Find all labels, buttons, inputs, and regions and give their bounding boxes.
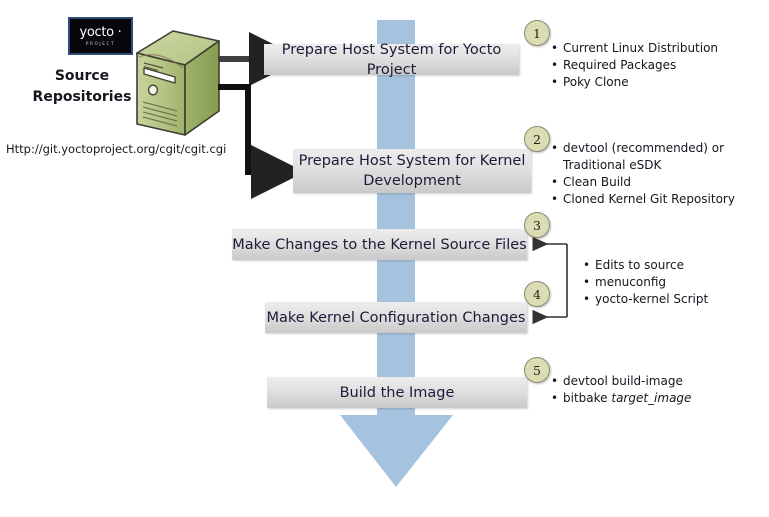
server-tower-icon bbox=[133, 27, 223, 139]
step-box-5[interactable]: Build the Image bbox=[267, 377, 527, 408]
step-badge-1: 1 bbox=[524, 20, 550, 46]
arrow-source-to-step2 bbox=[218, 87, 257, 172]
build-note-text: devtool build-image bbox=[563, 374, 683, 388]
yocto-project-logo: yocto · PROJECT bbox=[68, 17, 133, 55]
source-repositories-label: Source Repositories bbox=[22, 66, 142, 108]
step-badge-5: 5 bbox=[524, 357, 550, 383]
logo-subtext: PROJECT bbox=[86, 40, 115, 47]
step-badge-4: 4 bbox=[524, 281, 550, 307]
step-box-2[interactable]: Prepare Host System for Kernel Developme… bbox=[293, 149, 531, 193]
bitbake-target-param: target_image bbox=[611, 391, 691, 405]
list-item: Required Packages bbox=[551, 57, 718, 74]
step-box-4-label: Make Kernel Configuration Changes bbox=[267, 308, 526, 328]
step-box-3-label: Make Changes to the Kernel Source Files bbox=[232, 235, 526, 255]
list-item: Poky Clone bbox=[551, 74, 718, 91]
step-2-notes: devtool (recommended) or Traditional eSD… bbox=[551, 140, 735, 208]
step-badge-2: 2 bbox=[524, 126, 550, 152]
bitbake-command: bitbake bbox=[563, 391, 611, 405]
list-item: Edits to source bbox=[583, 257, 708, 274]
source-repositories-url: Http://git.yoctoproject.org/cgit/cgit.cg… bbox=[6, 142, 226, 156]
shared-kernel-notes: Edits to source menuconfig yocto-kernel … bbox=[583, 257, 708, 308]
step-badge-3-number: 3 bbox=[533, 218, 541, 233]
step-1-notes: Current Linux Distribution Required Pack… bbox=[551, 40, 718, 91]
list-item: menuconfig bbox=[583, 274, 708, 291]
list-item: devtool build-image bbox=[551, 373, 691, 390]
step-box-3[interactable]: Make Changes to the Kernel Source Files bbox=[232, 229, 527, 260]
step-box-1-label: Prepare Host System for Yocto Project bbox=[264, 40, 519, 80]
list-item: devtool (recommended) or Traditional eSD… bbox=[551, 140, 735, 174]
step-badge-1-number: 1 bbox=[533, 26, 541, 41]
step-5-notes: devtool build-image bitbake target_image bbox=[551, 373, 691, 407]
step-box-2-label: Prepare Host System for Kernel Developme… bbox=[293, 151, 531, 191]
step-box-5-label: Build the Image bbox=[340, 383, 455, 403]
logo-wordmark: yocto · bbox=[79, 26, 121, 39]
list-item: yocto-kernel Script bbox=[583, 291, 708, 308]
diagram-canvas: yocto · PROJECT Source Repositories Http… bbox=[0, 0, 769, 517]
list-item: bitbake target_image bbox=[551, 390, 691, 407]
main-flow-arrow bbox=[340, 20, 456, 505]
step-box-4[interactable]: Make Kernel Configuration Changes bbox=[265, 302, 527, 333]
step-badge-5-number: 5 bbox=[533, 363, 541, 378]
step-badge-2-number: 2 bbox=[533, 132, 541, 147]
step-box-1[interactable]: Prepare Host System for Yocto Project bbox=[264, 44, 519, 75]
step-badge-3: 3 bbox=[524, 212, 550, 238]
step-badge-4-number: 4 bbox=[533, 287, 541, 302]
list-item: Current Linux Distribution bbox=[551, 40, 718, 57]
list-item: Cloned Kernel Git Repository bbox=[551, 191, 735, 208]
list-item: Clean Build bbox=[551, 174, 735, 191]
